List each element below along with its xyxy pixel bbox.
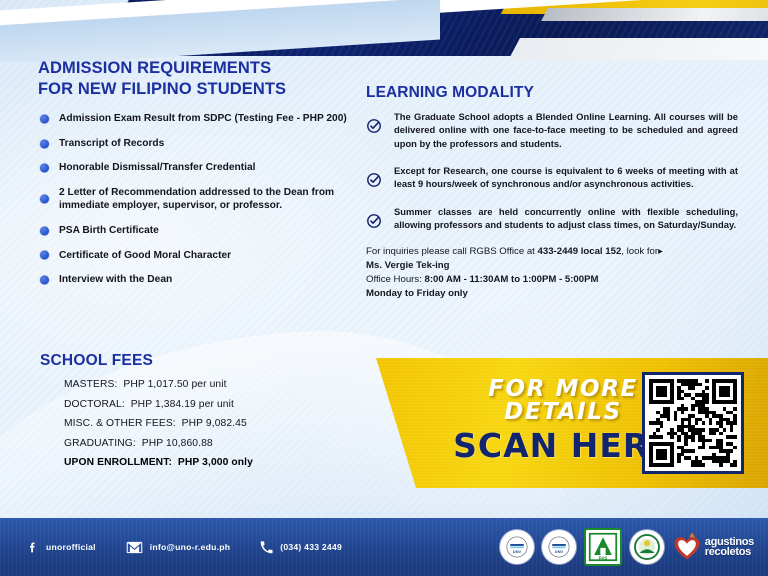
dnv-iso-9001-badge: DNV xyxy=(500,530,534,564)
admission-title-line1: ADMISSION REQUIREMENTS xyxy=(38,59,271,77)
school-fee-value: PHP 3,000 only xyxy=(178,457,253,468)
learning-modality-item: Except for Research, one course is equiv… xyxy=(366,164,738,191)
bullet-dot-icon xyxy=(40,226,49,235)
school-fees-list: MASTERS: PHP 1,017.50 per unitDOCTORAL: … xyxy=(40,378,370,470)
top-band-silver-stripe xyxy=(541,8,768,21)
learning-modality-label: Except for Research, one course is equiv… xyxy=(394,165,738,189)
learning-modality-title: LEARNING MODALITY xyxy=(366,84,738,102)
ar-line-2: recoletos xyxy=(705,547,754,557)
footer-phone[interactable]: (034) 433 2449 xyxy=(260,541,342,554)
learning-modality-section: LEARNING MODALITY The Graduate School ad… xyxy=(366,84,738,301)
admission-requirement-label: PSA Birth Certificate xyxy=(59,225,159,236)
admission-requirement-item: Admission Exam Result from SDPC (Testing… xyxy=(38,112,360,126)
footer-phone-label: (034) 433 2449 xyxy=(280,542,342,552)
school-fees-section: SCHOOL FEES MASTERS: PHP 1,017.50 per un… xyxy=(40,352,370,476)
inquiries-phone: 433-2449 local 152 xyxy=(538,246,622,257)
scan-here-banner: FOR MORE DETAILS SCAN HERE xyxy=(370,358,768,488)
footer-email-label: info@uno-r.edu.ph xyxy=(150,542,230,552)
school-fee-label: GRADUATING: xyxy=(64,438,136,449)
learning-modality-item: The Graduate School adopts a Blended Onl… xyxy=(366,110,738,150)
admission-requirement-label: 2 Letter of Recommendation addressed to … xyxy=(59,187,334,212)
check-circle-icon xyxy=(366,172,382,188)
school-fee-item: MISC. & OTHER FEES: PHP 9,082.45 xyxy=(64,417,370,431)
school-fee-label: DOCTORAL: xyxy=(64,399,125,410)
admission-requirement-label: Transcript of Records xyxy=(59,138,164,149)
admission-section: ADMISSION REQUIREMENTS FOR NEW FILIPINO … xyxy=(38,58,360,298)
school-fee-item: MASTERS: PHP 1,017.50 per unit xyxy=(64,378,370,392)
bullet-dot-icon xyxy=(40,195,49,204)
svg-text:DNV: DNV xyxy=(513,549,522,554)
footer-email[interactable]: info@uno-r.edu.ph xyxy=(126,541,230,554)
pacucoa-badge: PAS xyxy=(584,528,622,566)
qr-code-matrix xyxy=(649,379,737,467)
school-fee-item: UPON ENROLLMENT: PHP 3,000 only xyxy=(64,456,370,470)
bullet-dot-icon xyxy=(40,115,49,124)
footer-facebook[interactable]: unorofficial xyxy=(26,541,96,554)
school-fee-label: MASTERS: xyxy=(64,379,117,390)
inquiries-office-hours: Office Hours: 8:00 AM - 11:30AM to 1:00P… xyxy=(366,273,738,287)
admission-requirement-item: Certificate of Good Moral Character xyxy=(38,249,360,263)
admission-requirement-item: Honorable Dismissal/Transfer Credential xyxy=(38,161,360,175)
school-fee-label: UPON ENROLLMENT: xyxy=(64,457,172,468)
admission-requirements-list: Admission Exam Result from SDPC (Testing… xyxy=(38,112,360,287)
admission-requirement-item: Interview with the Dean xyxy=(38,273,360,287)
inquiries-days: Monday to Friday only xyxy=(366,287,738,301)
school-fees-title: SCHOOL FEES xyxy=(40,352,370,370)
inquiries-line1-post: , look for xyxy=(621,246,658,257)
bullet-dot-icon xyxy=(40,275,49,284)
check-circle-icon xyxy=(366,118,382,134)
footer-facebook-label: unorofficial xyxy=(46,542,96,552)
poster-canvas: ADMISSION REQUIREMENTS FOR NEW FILIPINO … xyxy=(0,0,768,576)
learning-modality-label: The Graduate School adopts a Blended Onl… xyxy=(394,111,738,149)
school-fee-value: PHP 1,017.50 per unit xyxy=(123,379,226,390)
footer-logos: DNV DNV PAS xyxy=(500,518,754,576)
learning-modality-list: The Graduate School adopts a Blended Onl… xyxy=(366,110,738,231)
bullet-dot-icon xyxy=(40,164,49,173)
school-fee-value: PHP 10,860.88 xyxy=(142,438,213,449)
admission-requirement-item: 2 Letter of Recommendation addressed to … xyxy=(38,186,360,213)
inquiries-arrow-icon: ▸ xyxy=(658,246,663,257)
inquiries-line-1: For inquiries please call RGBS Office at… xyxy=(366,245,738,259)
bullet-dot-icon xyxy=(40,251,49,260)
top-band-white-stripe-right xyxy=(508,38,768,60)
top-decorative-band xyxy=(0,0,768,62)
ched-seal-badge xyxy=(630,530,664,564)
flaming-heart-icon xyxy=(672,532,702,562)
learning-modality-label: Summer classes are held concurrently onl… xyxy=(394,206,738,230)
svg-text:PAS: PAS xyxy=(598,555,607,560)
inquiries-contact-person: Ms. Vergie Tek-ing xyxy=(366,259,738,273)
admission-title: ADMISSION REQUIREMENTS FOR NEW FILIPINO … xyxy=(38,58,360,100)
check-circle-icon xyxy=(366,118,382,134)
phone-icon xyxy=(260,541,273,554)
learning-modality-item: Summer classes are held concurrently onl… xyxy=(366,205,738,232)
check-circle-icon xyxy=(366,213,382,229)
facebook-icon xyxy=(26,541,39,554)
admission-title-line2: FOR NEW FILIPINO STUDENTS xyxy=(38,80,286,98)
admission-requirement-label: Honorable Dismissal/Transfer Credential xyxy=(59,162,255,173)
school-fee-value: PHP 9,082.45 xyxy=(182,418,247,429)
agustinos-recoletos-logo: agustinos recoletos xyxy=(672,532,754,562)
school-fee-item: DOCTORAL: PHP 1,384.19 per unit xyxy=(64,398,370,412)
admission-requirement-label: Admission Exam Result from SDPC (Testing… xyxy=(59,113,347,124)
svg-text:DNV: DNV xyxy=(555,549,564,554)
footer-contacts: unorofficial info@uno-r.edu.ph (034) 433… xyxy=(26,518,342,576)
admission-requirement-item: Transcript of Records xyxy=(38,137,360,151)
school-fee-label: MISC. & OTHER FEES: xyxy=(64,418,176,429)
qr-code[interactable] xyxy=(642,372,744,474)
school-fee-value: PHP 1,384.19 per unit xyxy=(131,399,234,410)
admission-requirement-label: Certificate of Good Moral Character xyxy=(59,250,231,261)
footer-bar: unorofficial info@uno-r.edu.ph (034) 433… xyxy=(0,518,768,576)
dnv-iso-14001-badge: DNV xyxy=(542,530,576,564)
check-circle-icon xyxy=(366,213,382,229)
agustinos-recoletos-wordmark: agustinos recoletos xyxy=(705,537,754,558)
admission-requirement-label: Interview with the Dean xyxy=(59,274,172,285)
gmail-icon xyxy=(126,541,143,554)
admission-requirement-item: PSA Birth Certificate xyxy=(38,224,360,238)
inquiries-block: For inquiries please call RGBS Office at… xyxy=(366,245,738,301)
inquiries-line1-pre: For inquiries please call RGBS Office at xyxy=(366,246,538,257)
bullet-dot-icon xyxy=(40,139,49,148)
school-fee-item: GRADUATING: PHP 10,860.88 xyxy=(64,437,370,451)
check-circle-icon xyxy=(366,172,382,188)
